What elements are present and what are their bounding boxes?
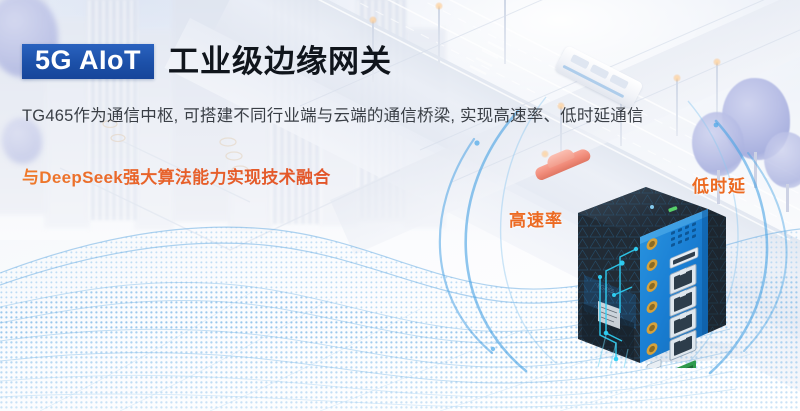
description-text: TG465作为通信中枢, 可搭建不同行业端与云端的通信桥梁, 实现高速率、低时延… bbox=[22, 103, 728, 130]
badge-5g-aiot: 5G AIoT bbox=[22, 44, 154, 79]
deepseek-subline: 与DeepSeek强大算法能力实现技术融合 bbox=[22, 163, 331, 188]
page-title: 工业级边缘网关 bbox=[168, 46, 392, 77]
callout-high-speed: 高速率 bbox=[509, 206, 563, 231]
content-layer: 5G AIoT 工业级边缘网关 TG465作为通信中枢, 可搭建不同行业端与云端… bbox=[0, 0, 800, 411]
title-row: 5G AIoT 工业级边缘网关 bbox=[22, 44, 392, 79]
callout-low-latency: 低时延 bbox=[692, 172, 746, 197]
banner-root: TG465 bbox=[0, 0, 800, 411]
